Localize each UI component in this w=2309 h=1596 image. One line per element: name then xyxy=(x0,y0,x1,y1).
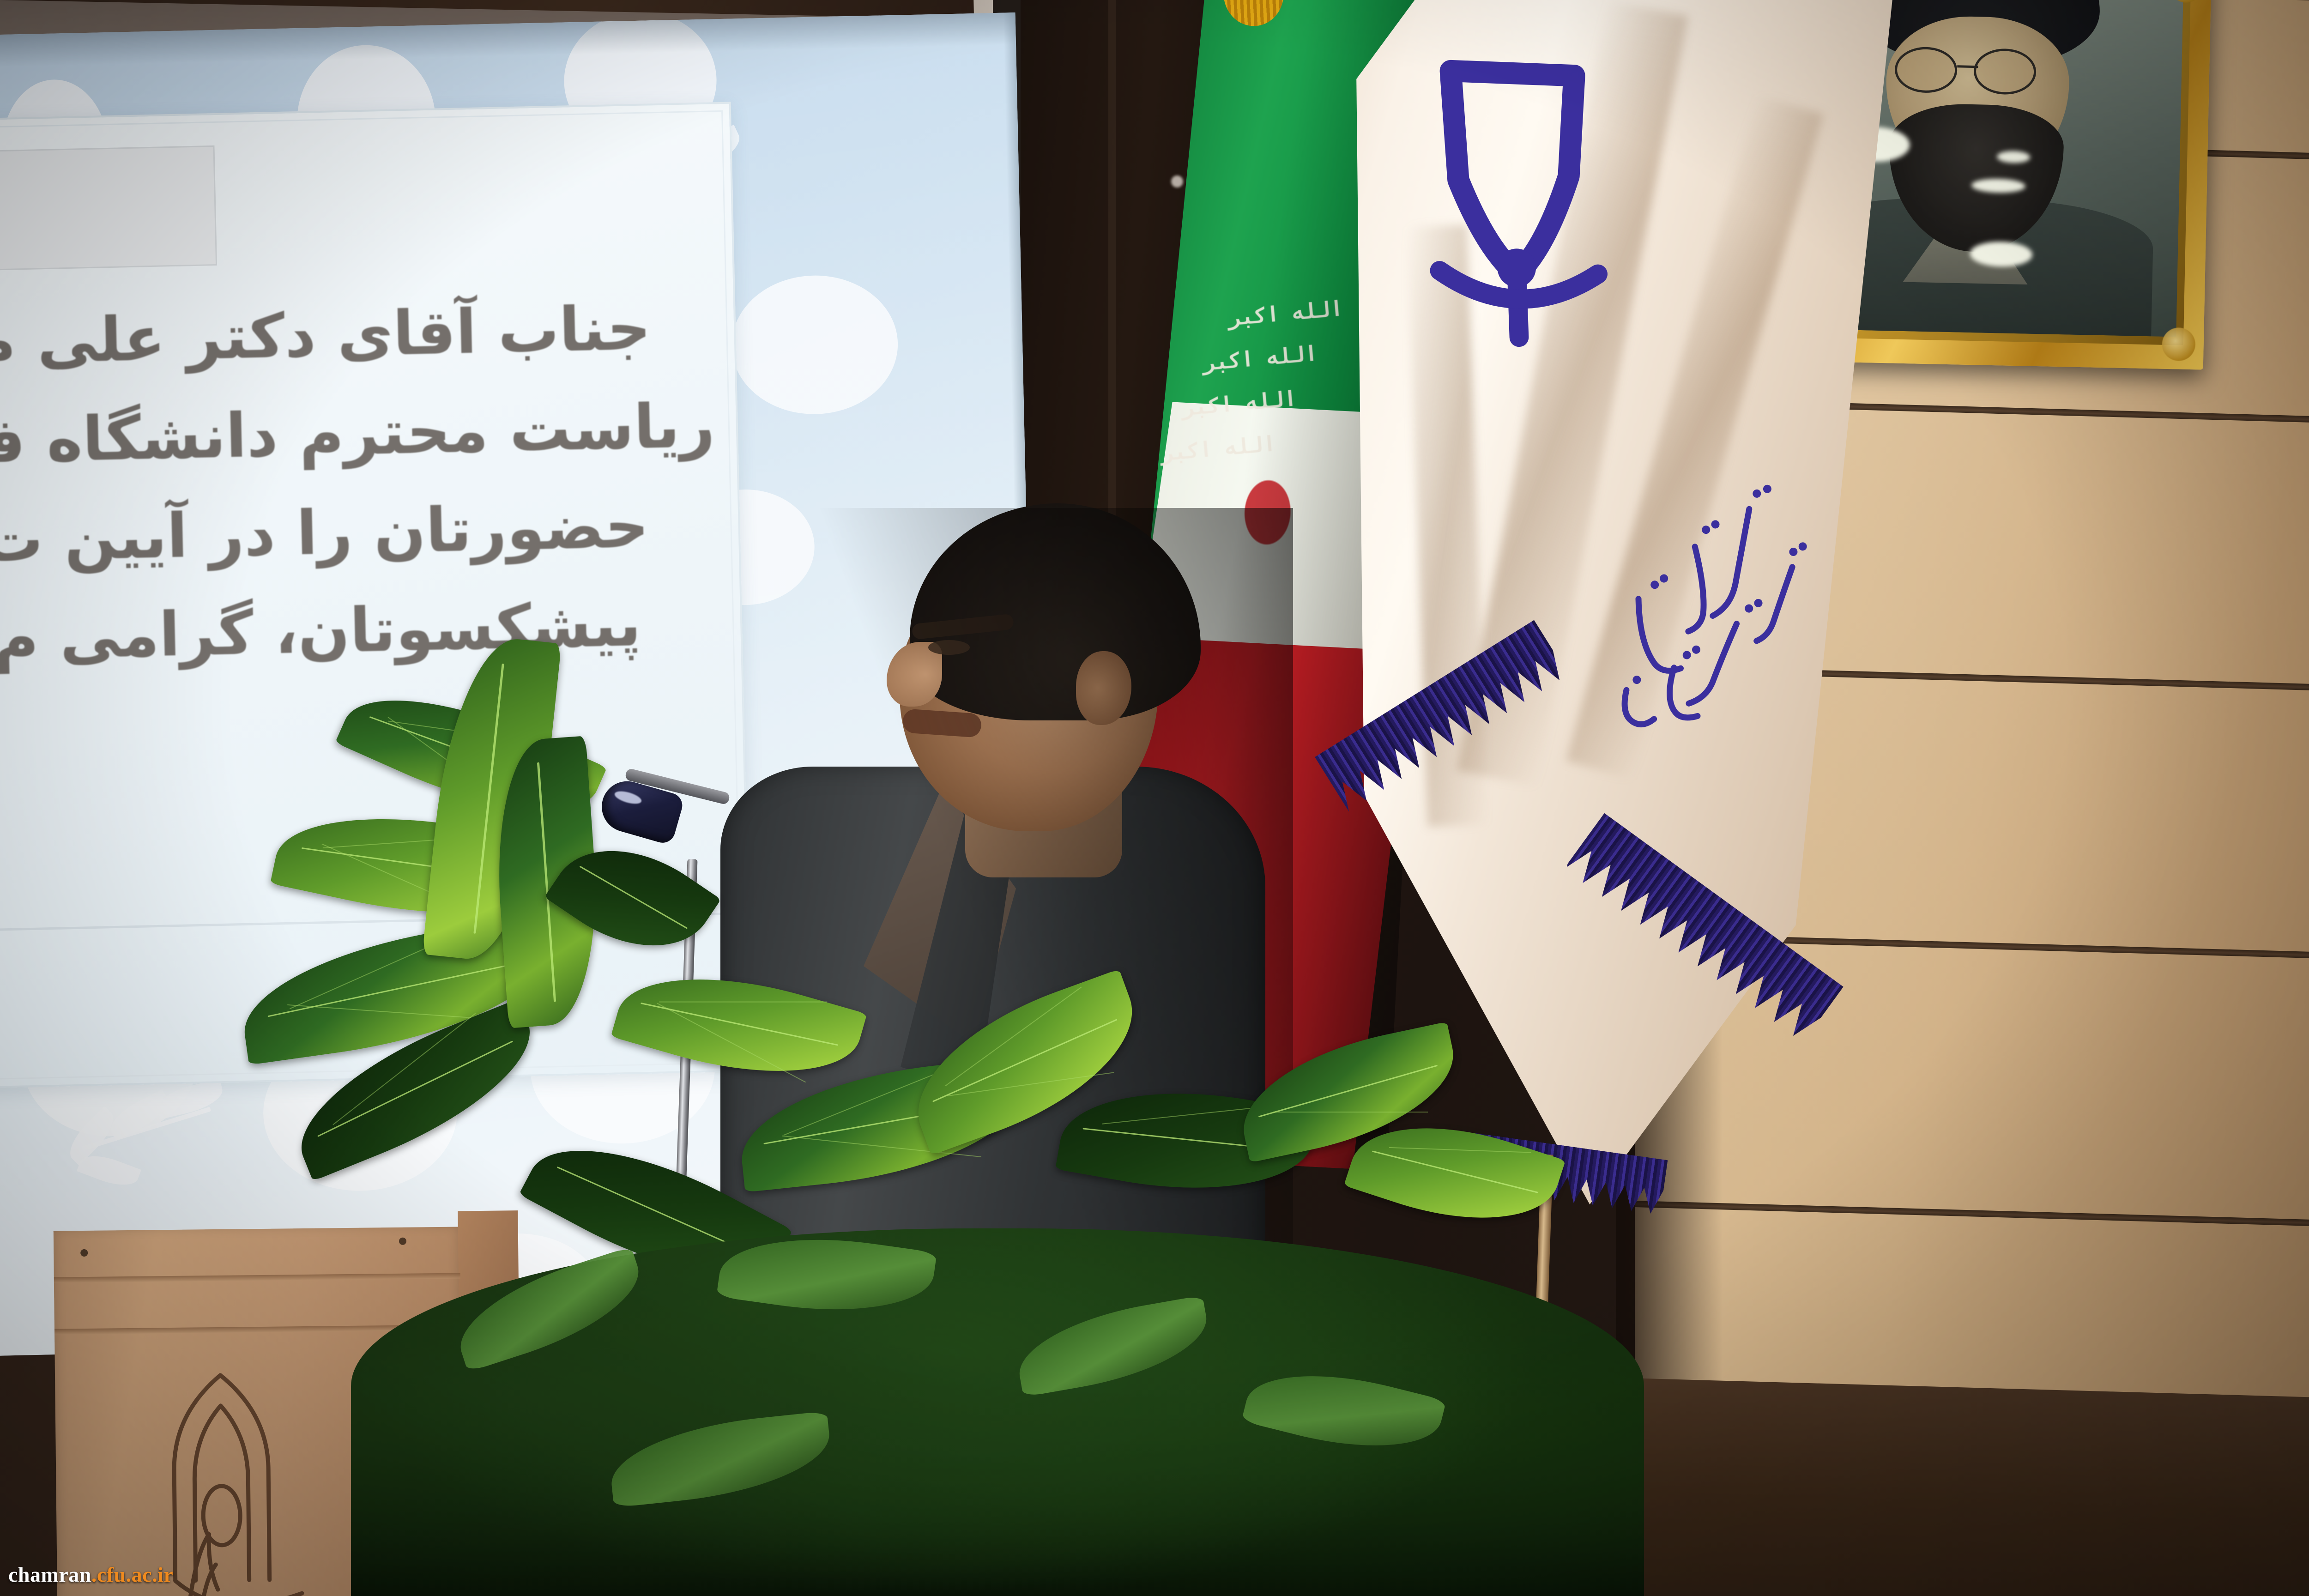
slide-line: ریاست محترم دانشگاه فره xyxy=(0,376,730,493)
watermark-primary: chamran xyxy=(8,1563,91,1586)
speaker-hair xyxy=(910,503,1201,720)
photo-scene: جناب آقای دکتر علی م ریاست محترم دانشگاه… xyxy=(0,0,2309,1596)
stage-floor xyxy=(1561,1376,2309,1596)
flag-calligraphy xyxy=(1549,472,1844,744)
watermark-secondary: .cfu.ac.ir xyxy=(91,1563,173,1586)
plant-leaf xyxy=(611,948,867,1103)
column-seam xyxy=(1108,0,1116,573)
slide-title-box xyxy=(0,145,217,273)
portrait-glasses-bridge xyxy=(1957,66,1978,68)
slide-line: پیشکسوتان، گرامی م xyxy=(0,574,734,690)
podium-emblem-icon xyxy=(143,1362,363,1596)
speaker-eye xyxy=(928,640,970,655)
slide-line: حضورتان را در آیین ت xyxy=(0,475,732,592)
slide-line: جناب آقای دکتر علی م xyxy=(0,278,728,394)
site-watermark: chamran.cfu.ac.ir xyxy=(8,1562,173,1587)
pen-nib-icon xyxy=(1413,53,1617,355)
slide-text-block: جناب آقای دکتر علی م ریاست محترم دانشگاه… xyxy=(0,278,734,690)
podium-screw xyxy=(80,1249,88,1257)
